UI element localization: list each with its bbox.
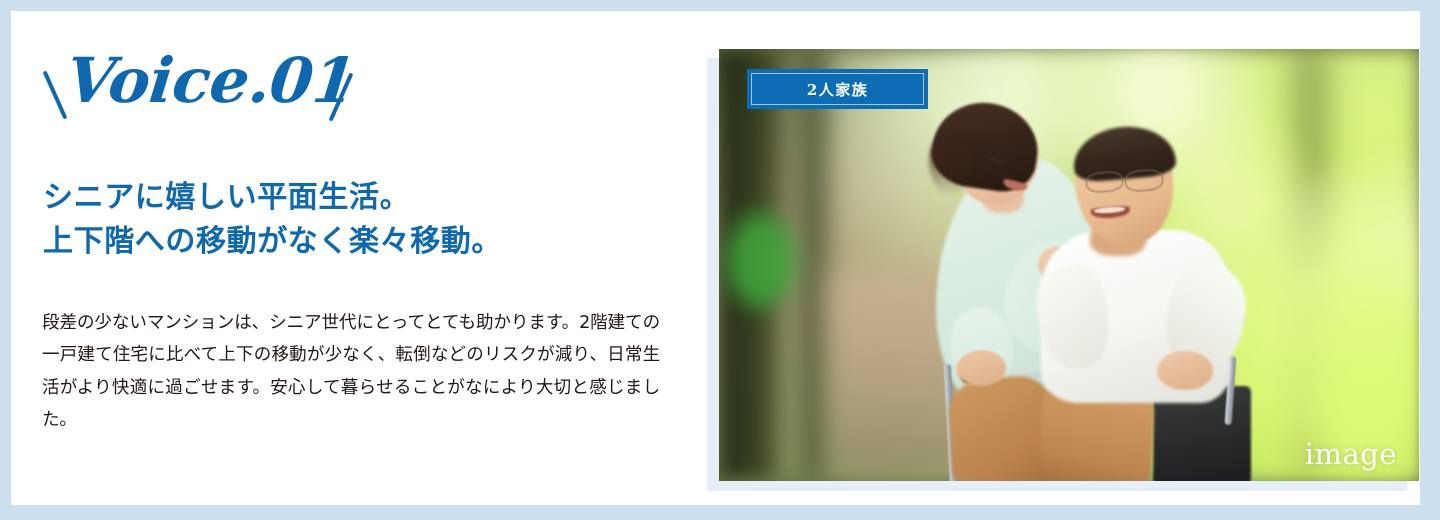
voice-photo: 2人家族 image xyxy=(719,49,1419,481)
family-size-badge-label: 2人家族 xyxy=(807,79,868,100)
voice-photo-block: 2人家族 image xyxy=(696,38,1408,493)
headline-line-1: シニアに嬉しい平面生活。 xyxy=(43,176,663,220)
page-title: シニアに嬉しい平面生活。 上下階への移動がなく楽々移動。 xyxy=(43,176,663,264)
page-root: Voice.01 シニアに嬉しい平面生活。 上下階への移動がなく楽々移動。 段差… xyxy=(0,0,1440,520)
image-watermark: image xyxy=(1305,440,1397,469)
voice-eyebrow: Voice.01 xyxy=(39,41,369,121)
voice-text-column: Voice.01 シニアに嬉しい平面生活。 上下階への移動がなく楽々移動。 段差… xyxy=(31,29,681,469)
voice-body-text: 段差の少ないマンションは、シニア世代にとってとても助かります。2階建ての一戸建て… xyxy=(42,307,660,437)
photo-man-hand-right xyxy=(1157,351,1213,390)
voice-eyebrow-label: Voice.01 xyxy=(63,41,360,121)
family-size-badge: 2人家族 xyxy=(747,69,928,109)
voice-card: Voice.01 シニアに嬉しい平面生活。 上下階への移動がなく楽々移動。 段差… xyxy=(11,11,1420,505)
headline-line-2: 上下階への移動がなく楽々移動。 xyxy=(43,220,663,264)
photo-man-hand-left xyxy=(957,351,1006,386)
